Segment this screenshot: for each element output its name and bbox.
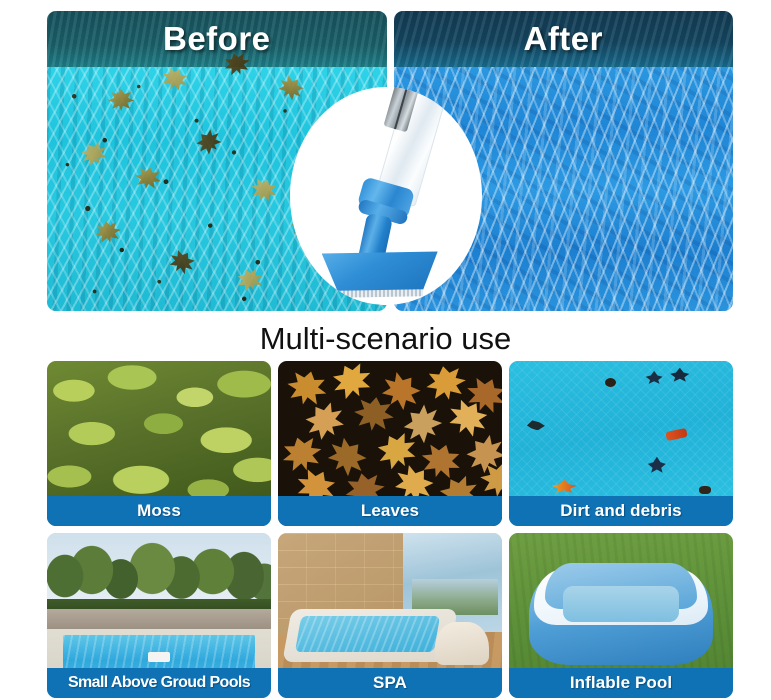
scenario-row-bottom: Small Above Groud Pools SPA	[47, 533, 733, 698]
scenario-label: Small Above Groud Pools	[68, 674, 250, 692]
scenario-card-spa[interactable]: SPA	[278, 533, 502, 698]
scenario-label-bar: Dirt and debris	[509, 496, 733, 526]
scenario-label: Moss	[137, 501, 181, 521]
scenario-label-bar: SPA	[278, 668, 502, 698]
scenario-card-moss[interactable]: Moss	[47, 361, 271, 526]
scenario-label-bar: Leaves	[278, 496, 502, 526]
scenario-label-bar: Moss	[47, 496, 271, 526]
before-label: Before	[163, 20, 271, 58]
scenario-label-bar: Inflable Pool	[509, 668, 733, 698]
section-title: Multi-scenario use	[0, 311, 771, 361]
scenario-label-bar: Small Above Groud Pools	[47, 668, 271, 698]
vacuum-illustration	[290, 87, 482, 305]
scenario-label: Inflable Pool	[570, 673, 672, 693]
after-label-band: After	[394, 11, 734, 67]
pool-vacuum-product	[290, 87, 482, 305]
vacuum-bristles	[336, 289, 422, 297]
vacuum-brush-head	[321, 246, 438, 294]
before-label-band: Before	[47, 11, 387, 67]
scenario-label: SPA	[373, 673, 407, 693]
scenario-label: Dirt and debris	[560, 501, 681, 521]
scenario-card-leaves[interactable]: Leaves	[278, 361, 502, 526]
scenario-card-small-above-ground-pools[interactable]: Small Above Groud Pools	[47, 533, 271, 698]
scenario-label: Leaves	[361, 501, 419, 521]
scenario-grid: Moss	[0, 361, 771, 698]
scenario-card-inflatable-pool[interactable]: Inflable Pool	[509, 533, 733, 698]
scenario-row-top: Moss	[47, 361, 733, 526]
scenario-card-dirt-and-debris[interactable]: Dirt and debris	[509, 361, 733, 526]
after-label: After	[523, 20, 603, 58]
product-infographic-page: Before After	[0, 0, 771, 700]
before-after-comparison: Before After	[0, 11, 771, 311]
